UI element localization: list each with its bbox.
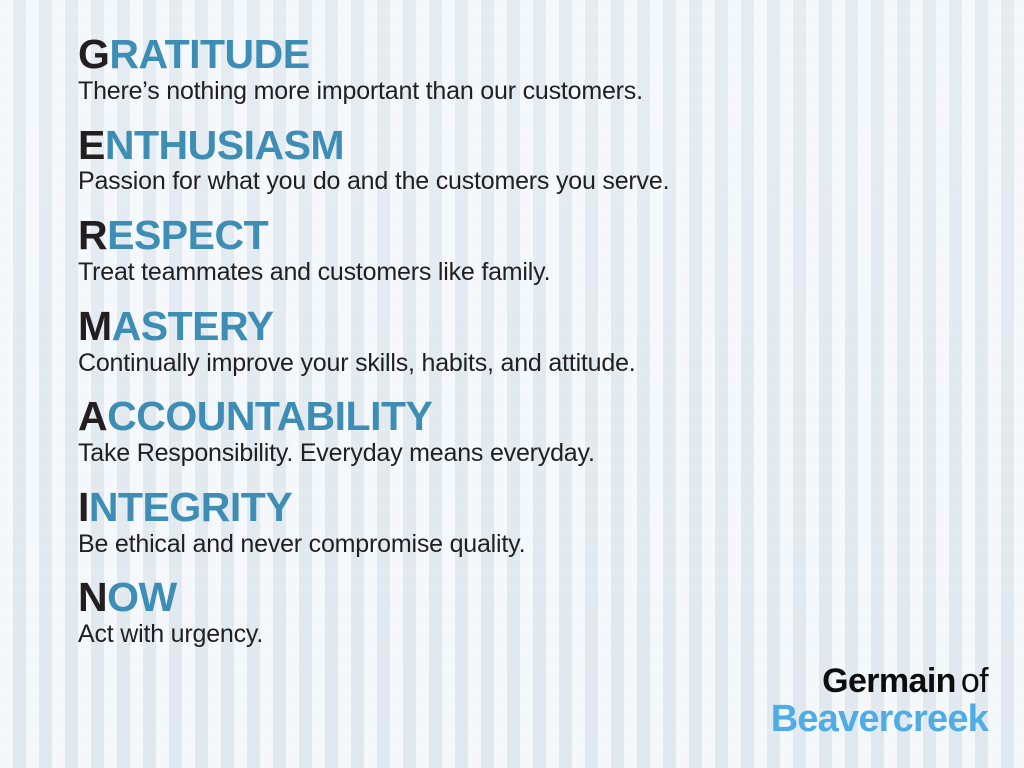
value-heading-enthusiasm: ENTHUSIASM	[78, 125, 1024, 167]
value-heading-mastery: MASTERY	[78, 306, 1024, 348]
core-values-poster: GRATITUDE There’s nothing more important…	[0, 0, 1024, 768]
value-heading-remainder: CCOUNTABILITY	[107, 393, 432, 439]
value-initial-letter: I	[78, 484, 89, 530]
values-list: GRATITUDE There’s nothing more important…	[0, 0, 1024, 649]
logo-line-primary: Germainof	[771, 664, 988, 698]
value-description-integrity: Be ethical and never compromise quality.	[78, 530, 1024, 559]
value-initial-letter: N	[78, 574, 107, 620]
value-block-accountability: ACCOUNTABILITY Take Responsibility. Ever…	[78, 396, 1024, 468]
value-heading-accountability: ACCOUNTABILITY	[78, 396, 1024, 438]
dealership-logo: Germainof Beavercreek	[771, 664, 988, 738]
value-block-respect: RESPECT Treat teammates and customers li…	[78, 215, 1024, 287]
logo-connector-word: of	[961, 662, 988, 700]
value-description-now: Act with urgency.	[78, 620, 1024, 649]
value-block-enthusiasm: ENTHUSIASM Passion for what you do and t…	[78, 125, 1024, 197]
value-block-now: NOW Act with urgency.	[78, 577, 1024, 649]
value-heading-remainder: RATITUDE	[109, 31, 309, 77]
value-block-integrity: INTEGRITY Be ethical and never compromis…	[78, 487, 1024, 559]
value-description-enthusiasm: Passion for what you do and the customer…	[78, 167, 1024, 196]
value-description-accountability: Take Responsibility. Everyday means ever…	[78, 439, 1024, 468]
value-block-gratitude: GRATITUDE There’s nothing more important…	[78, 34, 1024, 106]
logo-location-name: Beavercreek	[771, 700, 988, 738]
value-heading-gratitude: GRATITUDE	[78, 34, 1024, 76]
value-heading-now: NOW	[78, 577, 1024, 619]
value-initial-letter: E	[78, 122, 105, 168]
value-description-gratitude: There’s nothing more important than our …	[78, 77, 1024, 106]
logo-brand-name: Germain	[822, 662, 956, 700]
value-heading-remainder: NTEGRITY	[89, 484, 292, 530]
value-initial-letter: R	[78, 212, 107, 258]
value-heading-integrity: INTEGRITY	[78, 487, 1024, 529]
value-description-respect: Treat teammates and customers like famil…	[78, 258, 1024, 287]
value-description-mastery: Continually improve your skills, habits,…	[78, 349, 1024, 378]
value-heading-remainder: ASTERY	[112, 303, 274, 349]
value-heading-respect: RESPECT	[78, 215, 1024, 257]
value-block-mastery: MASTERY Continually improve your skills,…	[78, 306, 1024, 378]
value-heading-remainder: OW	[107, 574, 177, 620]
value-initial-letter: A	[78, 393, 107, 439]
value-initial-letter: M	[78, 303, 112, 349]
value-heading-remainder: NTHUSIASM	[105, 122, 344, 168]
value-initial-letter: G	[78, 31, 109, 77]
value-heading-remainder: ESPECT	[107, 212, 268, 258]
